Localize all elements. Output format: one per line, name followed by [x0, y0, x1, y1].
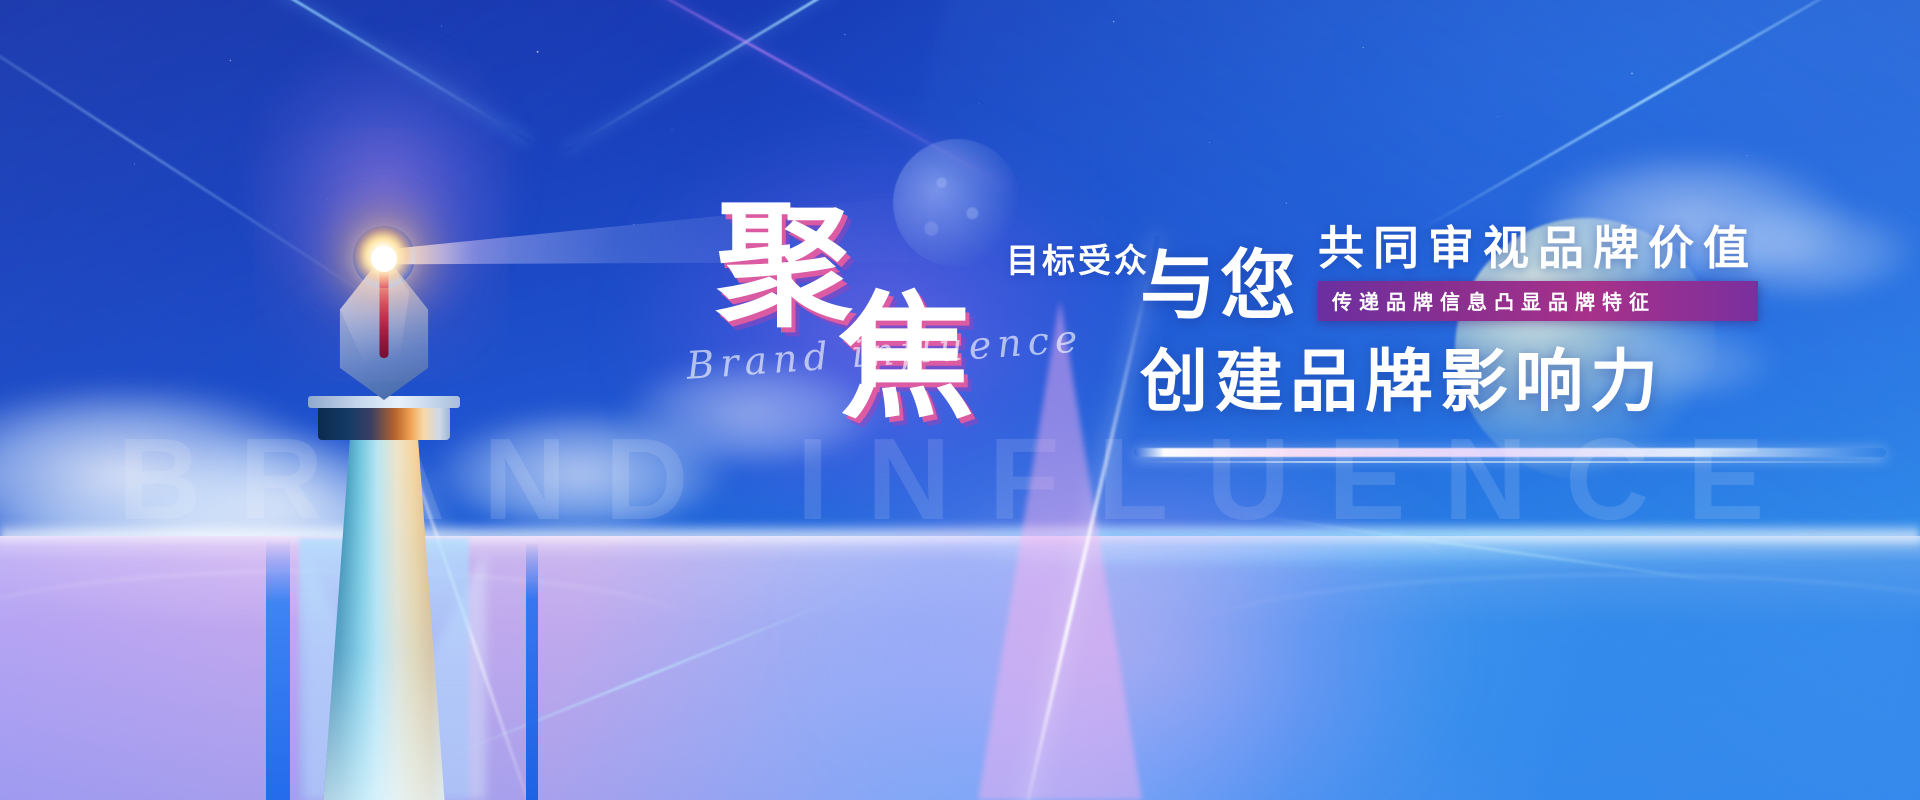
ground-wave — [560, 536, 1460, 650]
pen-nib-slit — [380, 266, 389, 358]
focus-char-ju: 聚 — [716, 198, 854, 334]
cloud-icon — [0, 470, 480, 620]
lighthouse-reflection — [299, 538, 469, 800]
beacon-lamp-core — [371, 246, 397, 272]
light-streak-3 — [564, 0, 1097, 152]
headline-main-row: 与您 共同审视品牌价值 传递品牌信息凸显品牌特征 — [1140, 224, 1758, 325]
pen-nib-icon — [326, 254, 442, 400]
lighthouse-ground-light-left — [304, 550, 424, 800]
beacon-halo — [234, 30, 534, 330]
cyan-light-shaft — [445, 599, 835, 758]
lighthouse-gallery-band — [318, 406, 450, 440]
cyan-light-shaft — [1232, 512, 1747, 586]
build-line: 创建品牌影响力 — [1140, 348, 1665, 416]
cloud-icon — [120, 430, 450, 570]
lighthouse-railing — [308, 396, 460, 408]
headline-right-column: 共同审视品牌价值 传递品牌信息凸显品牌特征 — [1318, 224, 1758, 325]
cloud-icon — [430, 408, 730, 528]
light-streak-1 — [0, 0, 531, 143]
review-line: 共同审视品牌价值 — [1318, 224, 1758, 274]
status-badge: 传递品牌信息凸显品牌特征 — [1318, 281, 1758, 321]
audience-tag: 目标受众 — [1006, 234, 1150, 282]
ground-wave — [1180, 574, 1920, 704]
light-streak-2 — [0, 0, 391, 311]
beacon-lamp-icon — [353, 226, 415, 288]
white-light-shaft-left — [358, 310, 543, 800]
headline-block: 聚 焦 目标受众 Brand influence 与您 共同审视品牌价值 传递品… — [716, 178, 1876, 498]
pen-nib-highlight — [326, 254, 442, 400]
with-you-text: 与您 — [1140, 249, 1300, 325]
headline-divider — [1134, 448, 1886, 457]
lighthouse-pillar-left — [266, 540, 290, 800]
lighthouse-tower-body — [300, 432, 468, 800]
horizon-glow — [0, 522, 1920, 548]
lighthouse-ground-light-right — [356, 550, 486, 800]
headline-divider-thin — [1146, 461, 1888, 463]
ground-wave — [0, 570, 700, 690]
violet-light-streak — [552, 0, 1008, 188]
lighthouse-tower-shading — [300, 432, 468, 800]
lighthouse-pillar-right — [526, 542, 538, 800]
horizon-cyan-glow — [960, 530, 1920, 564]
pen-nib-lighthouse-icon — [268, 230, 500, 800]
brand-banner: BRAND INFLUENCE 聚 焦 目标受众 Brand influen — [0, 0, 1920, 800]
ground-plane — [0, 536, 1920, 800]
cloud-icon — [0, 382, 340, 552]
